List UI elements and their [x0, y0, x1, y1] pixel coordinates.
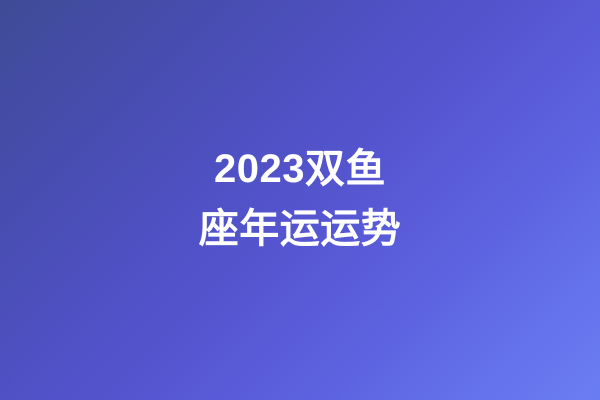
banner-title-line-1: 2023双鱼 — [199, 139, 402, 199]
banner-title-line-2: 座年运运势 — [199, 199, 402, 259]
banner-title: 2023双鱼 座年运运势 — [199, 139, 402, 261]
banner-background: 2023双鱼 座年运运势 — [0, 0, 600, 400]
